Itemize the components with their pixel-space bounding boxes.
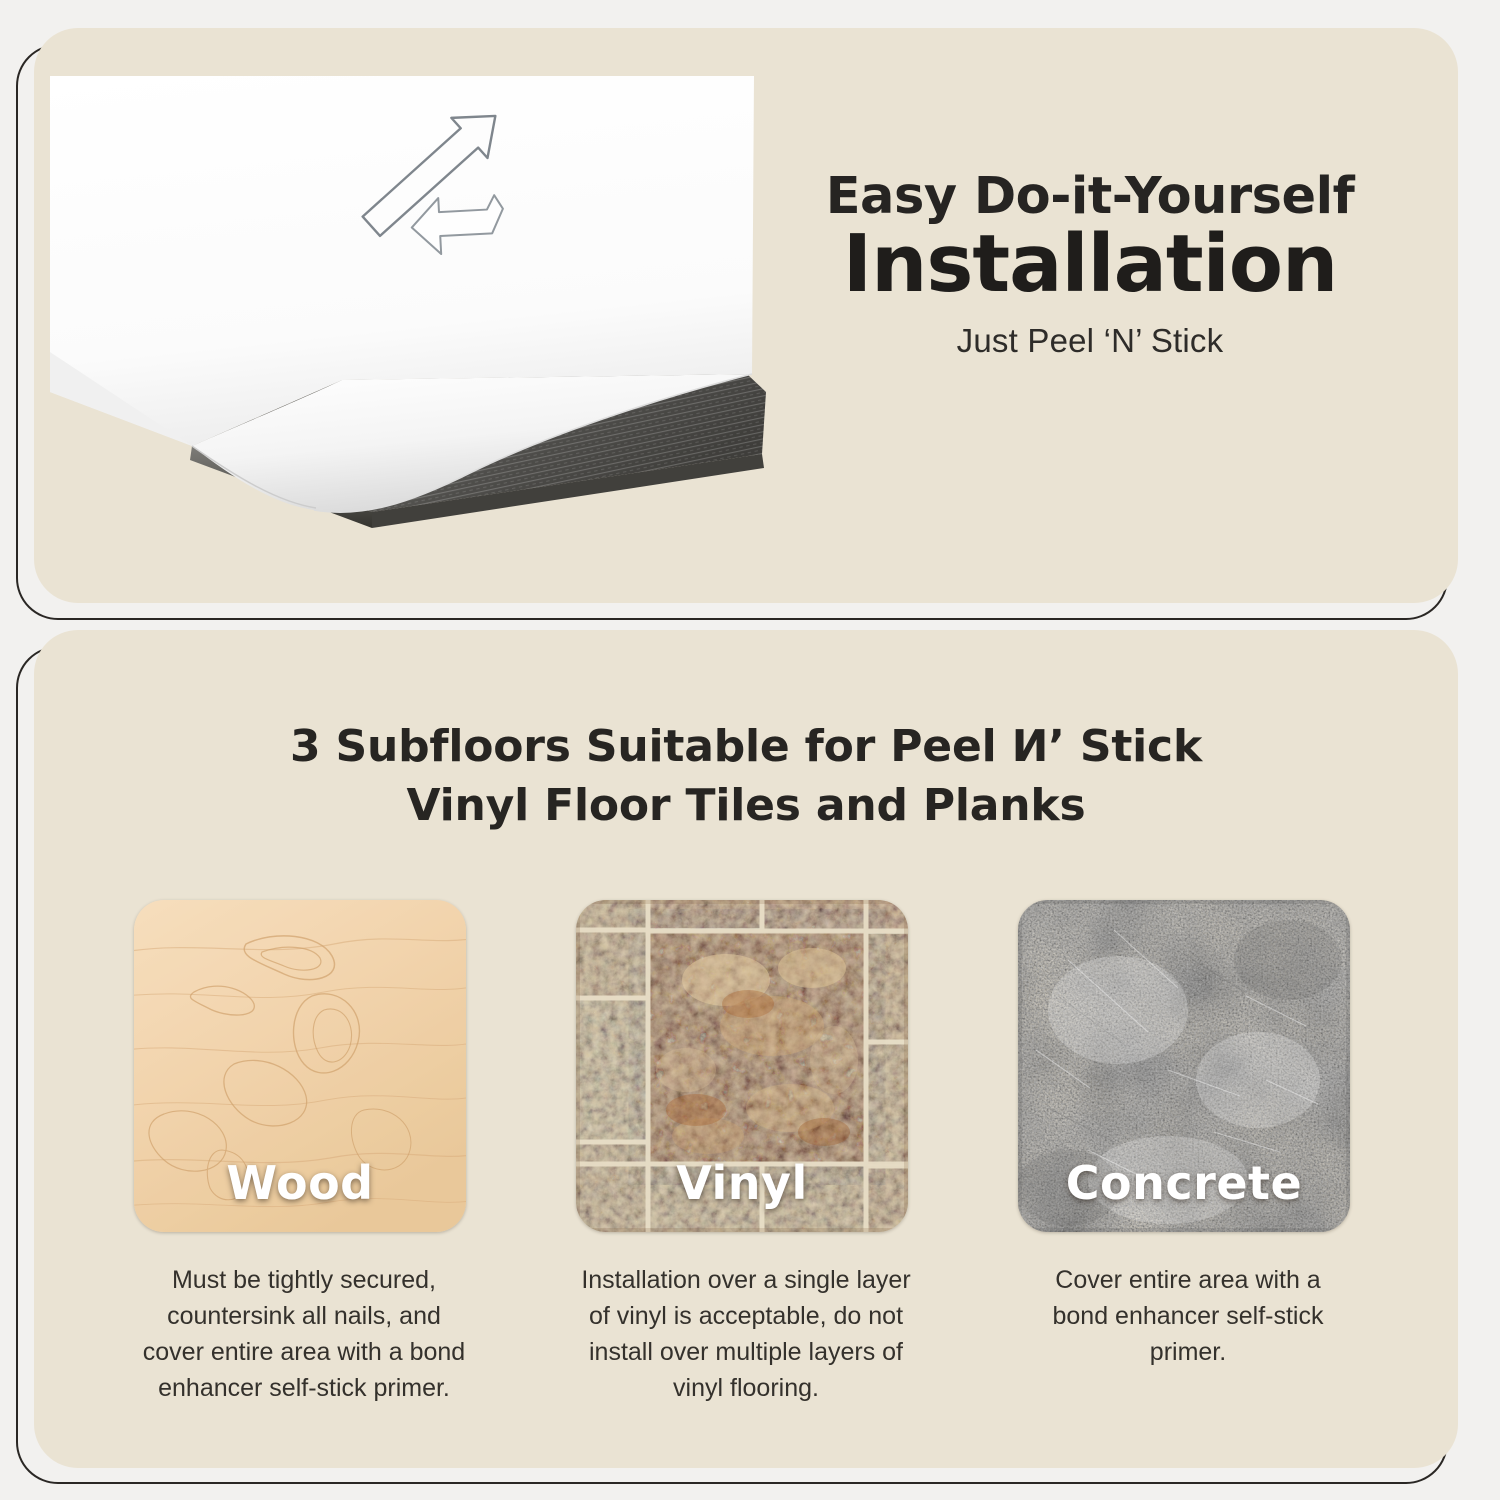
swatch-tile-concrete[interactable]: Concrete xyxy=(1018,900,1350,1232)
swatch-caption-wood: Must be tightly secured, countersink all… xyxy=(134,1262,474,1406)
headline-line-1: Easy Do-it-Yourself xyxy=(800,170,1380,223)
swatch-column-vinyl: Vinyl Installation over a single layer o… xyxy=(576,900,916,1406)
swatch-label-vinyl: Vinyl xyxy=(576,1156,908,1210)
swatch-tile-vinyl[interactable]: Vinyl xyxy=(576,900,908,1232)
subfloor-heading-line-2: Vinyl Floor Tiles and Planks xyxy=(34,777,1458,836)
peel-n-stick-photo xyxy=(42,62,786,534)
infographic-page: Easy Do-it-Yourself Installation Just Pe… xyxy=(0,0,1500,1500)
swatch-label-concrete: Concrete xyxy=(1018,1156,1350,1210)
swatch-tile-wood[interactable]: Wood xyxy=(134,900,466,1232)
swatch-caption-vinyl: Installation over a single layer of viny… xyxy=(576,1262,916,1406)
peel-liner-illustration xyxy=(42,62,786,534)
swatch-column-wood: Wood Must be tightly secured, countersin… xyxy=(134,900,474,1406)
headline-line-2: Installation xyxy=(800,225,1380,304)
hero-subhead: Just Peel ‘N’ Stick xyxy=(800,322,1380,360)
swatch-label-wood: Wood xyxy=(134,1156,466,1210)
subfloor-swatch-grid: Wood Must be tightly secured, countersin… xyxy=(34,900,1458,1406)
swatch-caption-concrete: Cover entire area with a bond enhancer s… xyxy=(1018,1262,1358,1370)
subfloor-heading-line-1: 3 Subfloors Suitable for Peel И’ Stick xyxy=(34,718,1458,777)
hero-text-block: Easy Do-it-Yourself Installation Just Pe… xyxy=(800,170,1380,360)
subfloor-heading: 3 Subfloors Suitable for Peel И’ Stick V… xyxy=(34,718,1458,835)
swatch-column-concrete: Concrete Cover entire area with a bond e… xyxy=(1018,900,1358,1406)
